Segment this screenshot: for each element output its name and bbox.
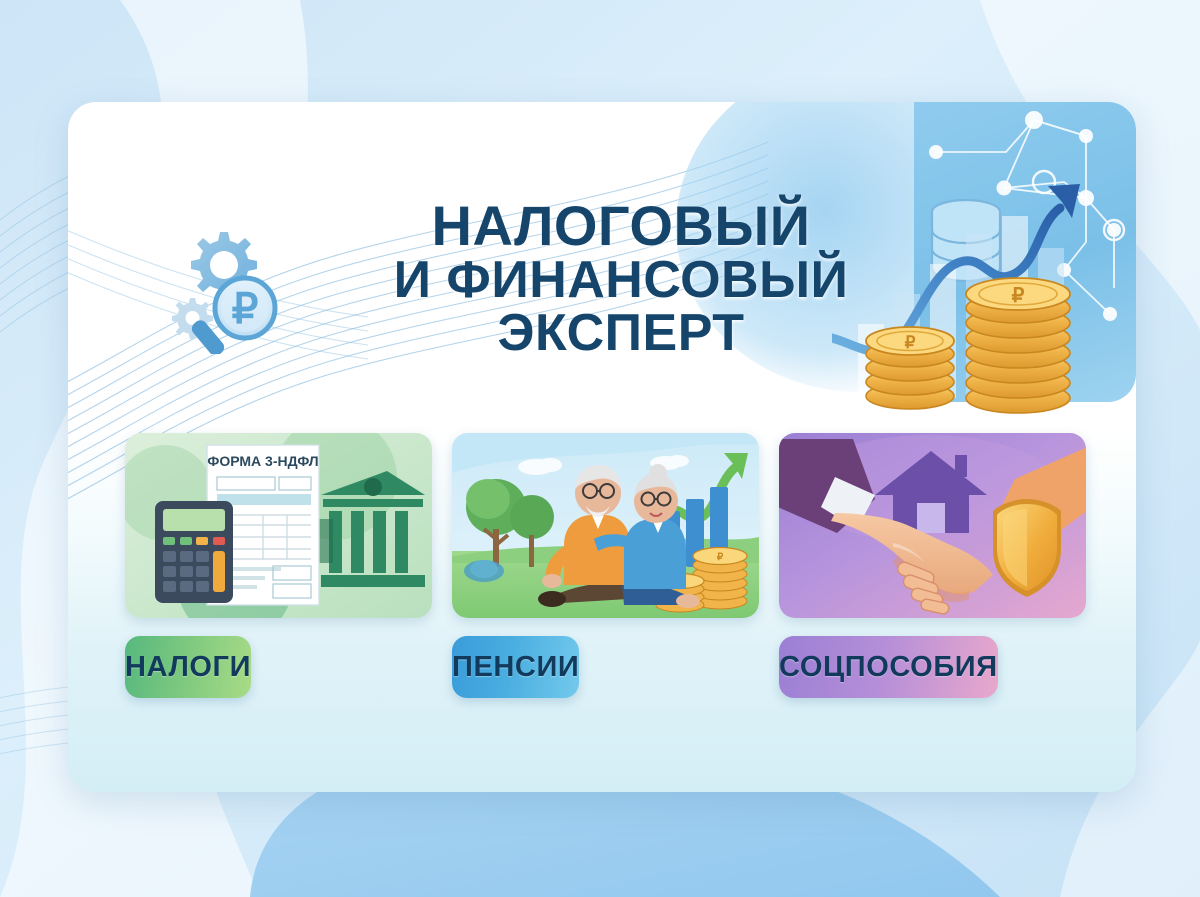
coin-stack-icon: ₽ [866,327,954,409]
calculator-icon [155,501,233,603]
tile-benefits-image[interactable] [779,433,1086,618]
benefits-button[interactable]: СОЦПОСОБИЯ [779,636,998,698]
category-tiles: ФОРМА 3-НДФЛ [125,433,1087,698]
coin-ruble-symbol: ₽ [717,552,724,563]
hero-illustration-graphic: ₽ ₽ [832,108,1132,418]
tile-benefits: СОЦПОСОБИЯ [779,433,1086,698]
ruble-symbol: ₽ [232,285,259,332]
coin-ruble-symbol-2: ₽ [1012,285,1025,307]
form-title: ФОРМА 3-НДФЛ [207,453,318,469]
magnifier-icon: ₽ [215,278,275,338]
tile-taxes-image[interactable]: ФОРМА 3-НДФЛ [125,433,432,618]
hero-finance-illustration: ₽ ₽ [832,108,1132,418]
taxes-button[interactable]: НАЛОГИ [125,636,251,698]
handshake-house-shield-illustration [779,433,1086,618]
pensions-button[interactable]: ПЕНСИИ [452,636,579,698]
tax-form-calculator-bank-illustration: ФОРМА 3-НДФЛ [125,433,432,618]
coin-stack-tall-icon: ₽ [966,278,1070,413]
coin-ruble-symbol: ₽ [905,333,916,352]
gear-magnifier-ruble-logo: ₽ [166,222,298,354]
tile-pensions-image[interactable]: ₽ ₽ [452,433,759,618]
elderly-couple-park-growth-illustration: ₽ ₽ [452,433,759,618]
poster-header: ₽ НАЛОГОВЫЙ И ФИНАНСОВЫЙ ЭКСПЕРТ [68,102,1136,402]
logo-graphic: ₽ [166,222,298,354]
main-poster-card: ₽ НАЛОГОВЫЙ И ФИНАНСОВЫЙ ЭКСПЕРТ [68,102,1136,792]
tile-pensions: ₽ ₽ [452,433,759,698]
tile-taxes: ФОРМА 3-НДФЛ [125,433,432,698]
